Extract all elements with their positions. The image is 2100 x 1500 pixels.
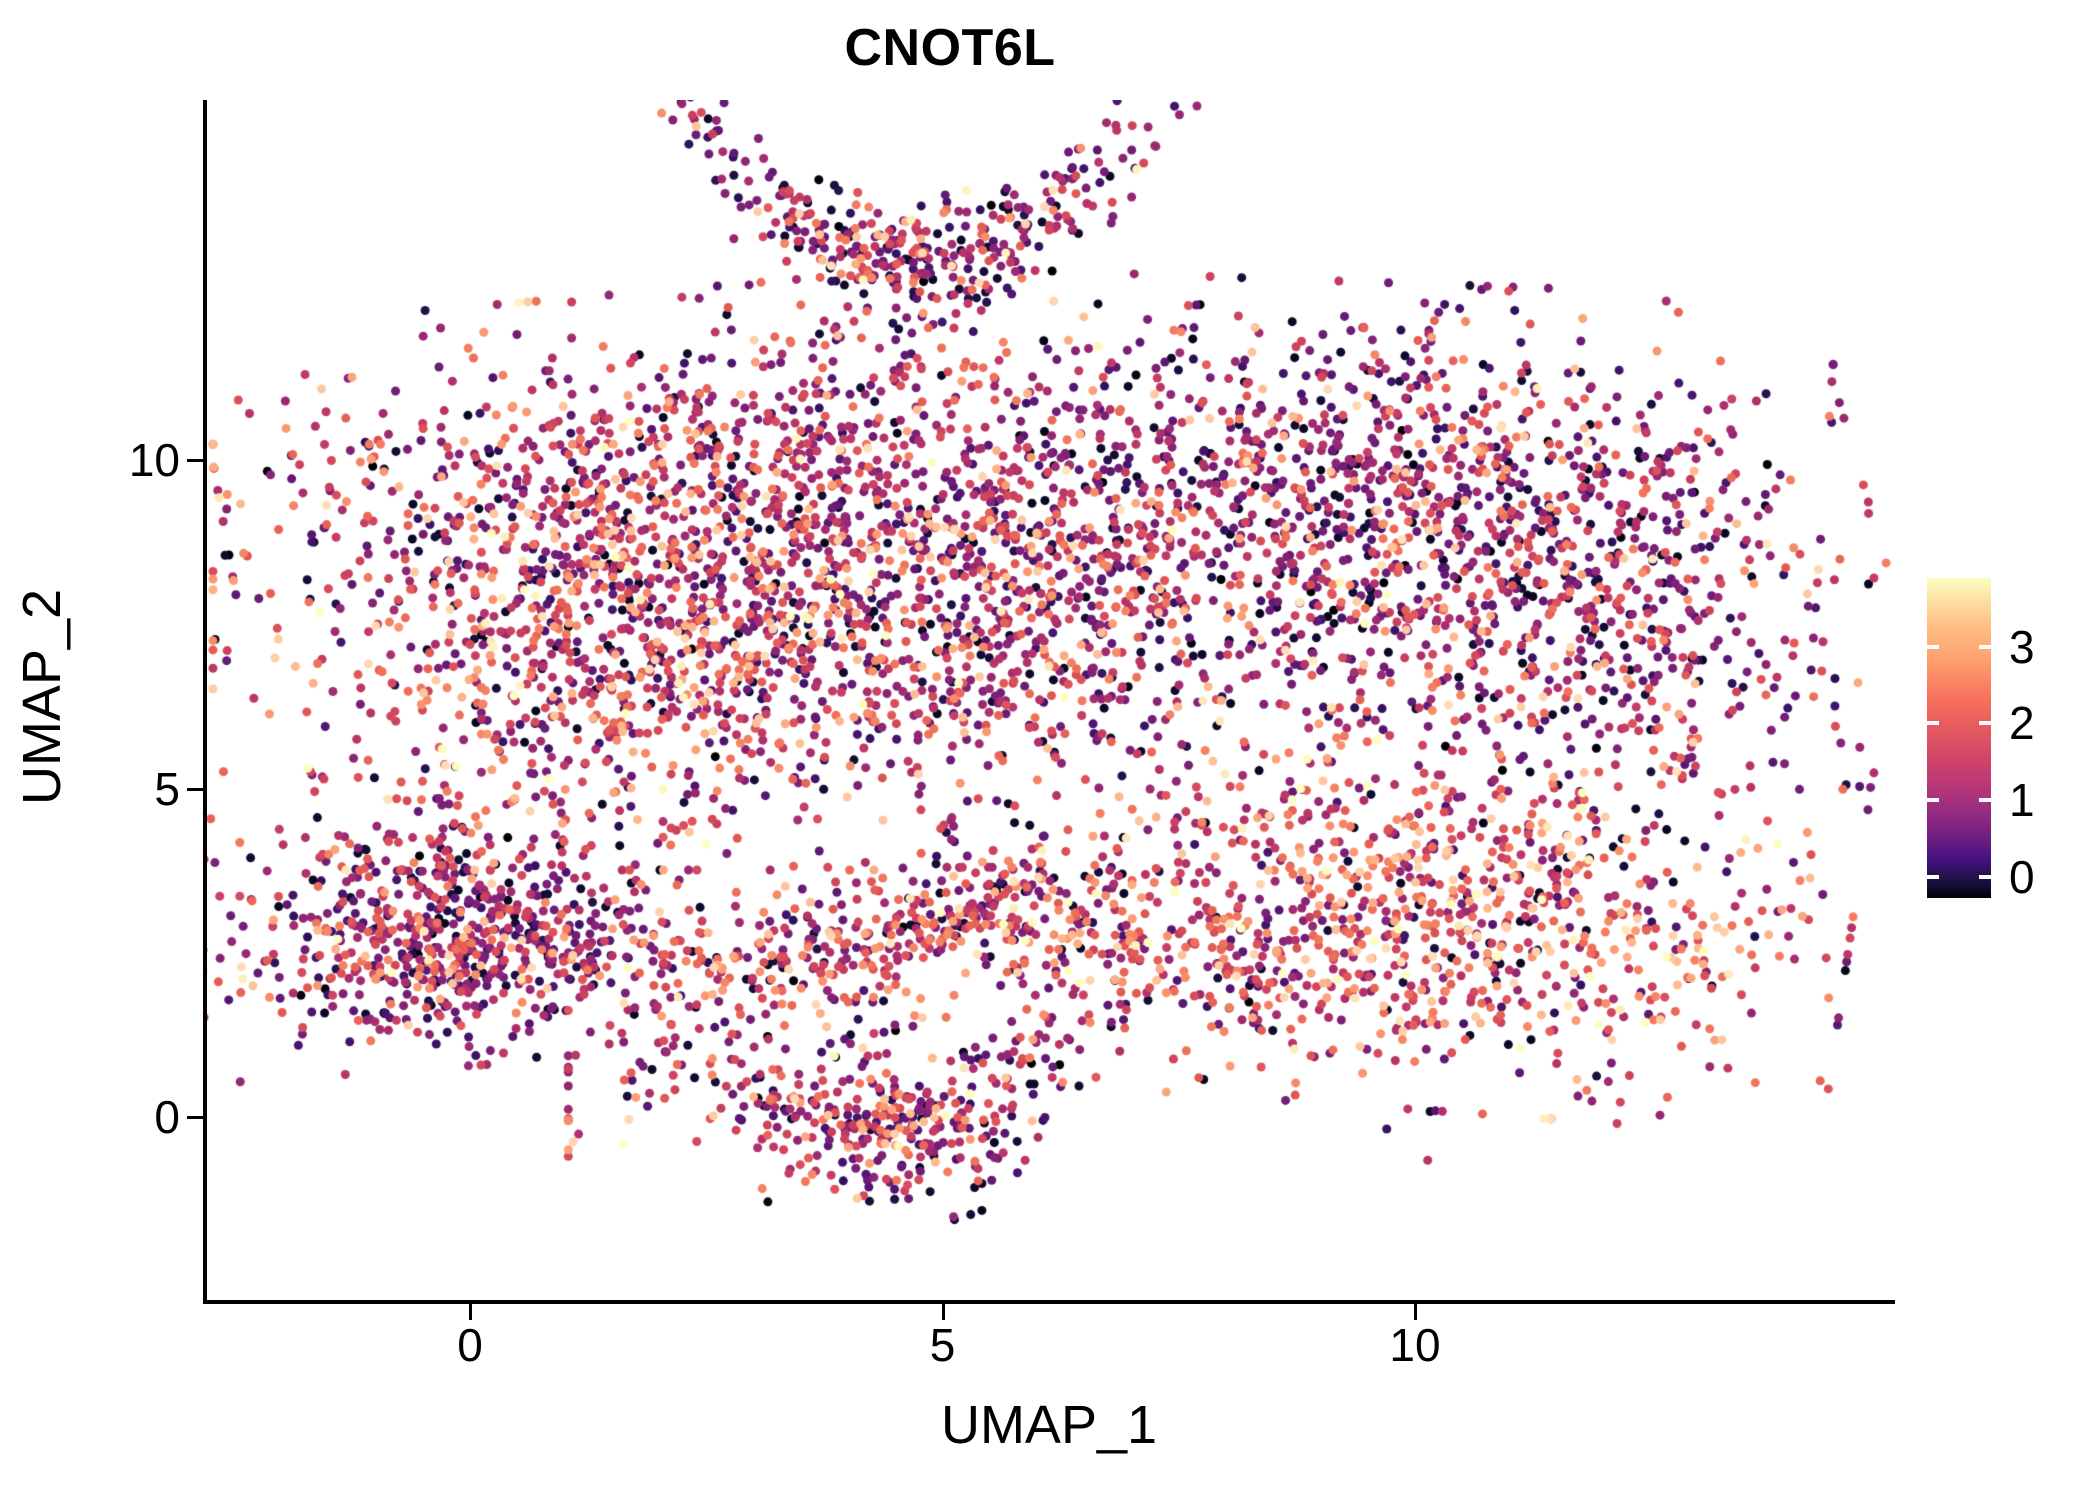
colorbar-tick-label: 2 [2009, 700, 2035, 746]
colorbar-tick-mark [1927, 798, 1939, 802]
colorbar-tick-mark [1979, 875, 1991, 879]
color-legend [1927, 578, 1991, 898]
y-tick-mark [187, 1116, 203, 1119]
colorbar-tick-mark [1979, 721, 1991, 725]
x-tick-label: 0 [457, 1322, 483, 1368]
y-tick-label: 10 [129, 437, 180, 483]
y-tick-label: 5 [154, 766, 180, 812]
x-tick-label: 5 [930, 1322, 956, 1368]
colorbar-tick-mark [1927, 645, 1939, 649]
colorbar-tick-mark [1979, 645, 1991, 649]
colorbar-tick-label: 1 [2009, 777, 2035, 823]
x-axis-title: UMAP_1 [203, 1398, 1895, 1452]
x-tick-mark [1414, 1304, 1417, 1320]
y-tick-mark [187, 459, 203, 462]
x-tick-mark [469, 1304, 472, 1320]
colorbar-tick-mark [1927, 721, 1939, 725]
colorbar-tick-mark [1979, 798, 1991, 802]
y-axis-title: UMAP_2 [15, 397, 69, 997]
colorbar-tick-mark [1927, 875, 1939, 879]
colorbar-tick-label: 0 [2009, 854, 2035, 900]
umap-feature-plot: CNOT6L 0510 0510 UMAP_1 UMAP_2 0123 [0, 0, 2100, 1500]
colorbar-tick-label: 3 [2009, 624, 2035, 670]
y-tick-mark [187, 788, 203, 791]
scatter-plot-canvas [206, 100, 1895, 1302]
x-tick-mark [942, 1304, 945, 1320]
x-axis-line [203, 1300, 1895, 1304]
x-tick-label: 10 [1389, 1322, 1440, 1368]
y-tick-label: 0 [154, 1094, 180, 1140]
y-axis-line [203, 100, 207, 1303]
page-title: CNOT6L [0, 22, 1900, 74]
colorbar-gradient [1927, 578, 1991, 898]
